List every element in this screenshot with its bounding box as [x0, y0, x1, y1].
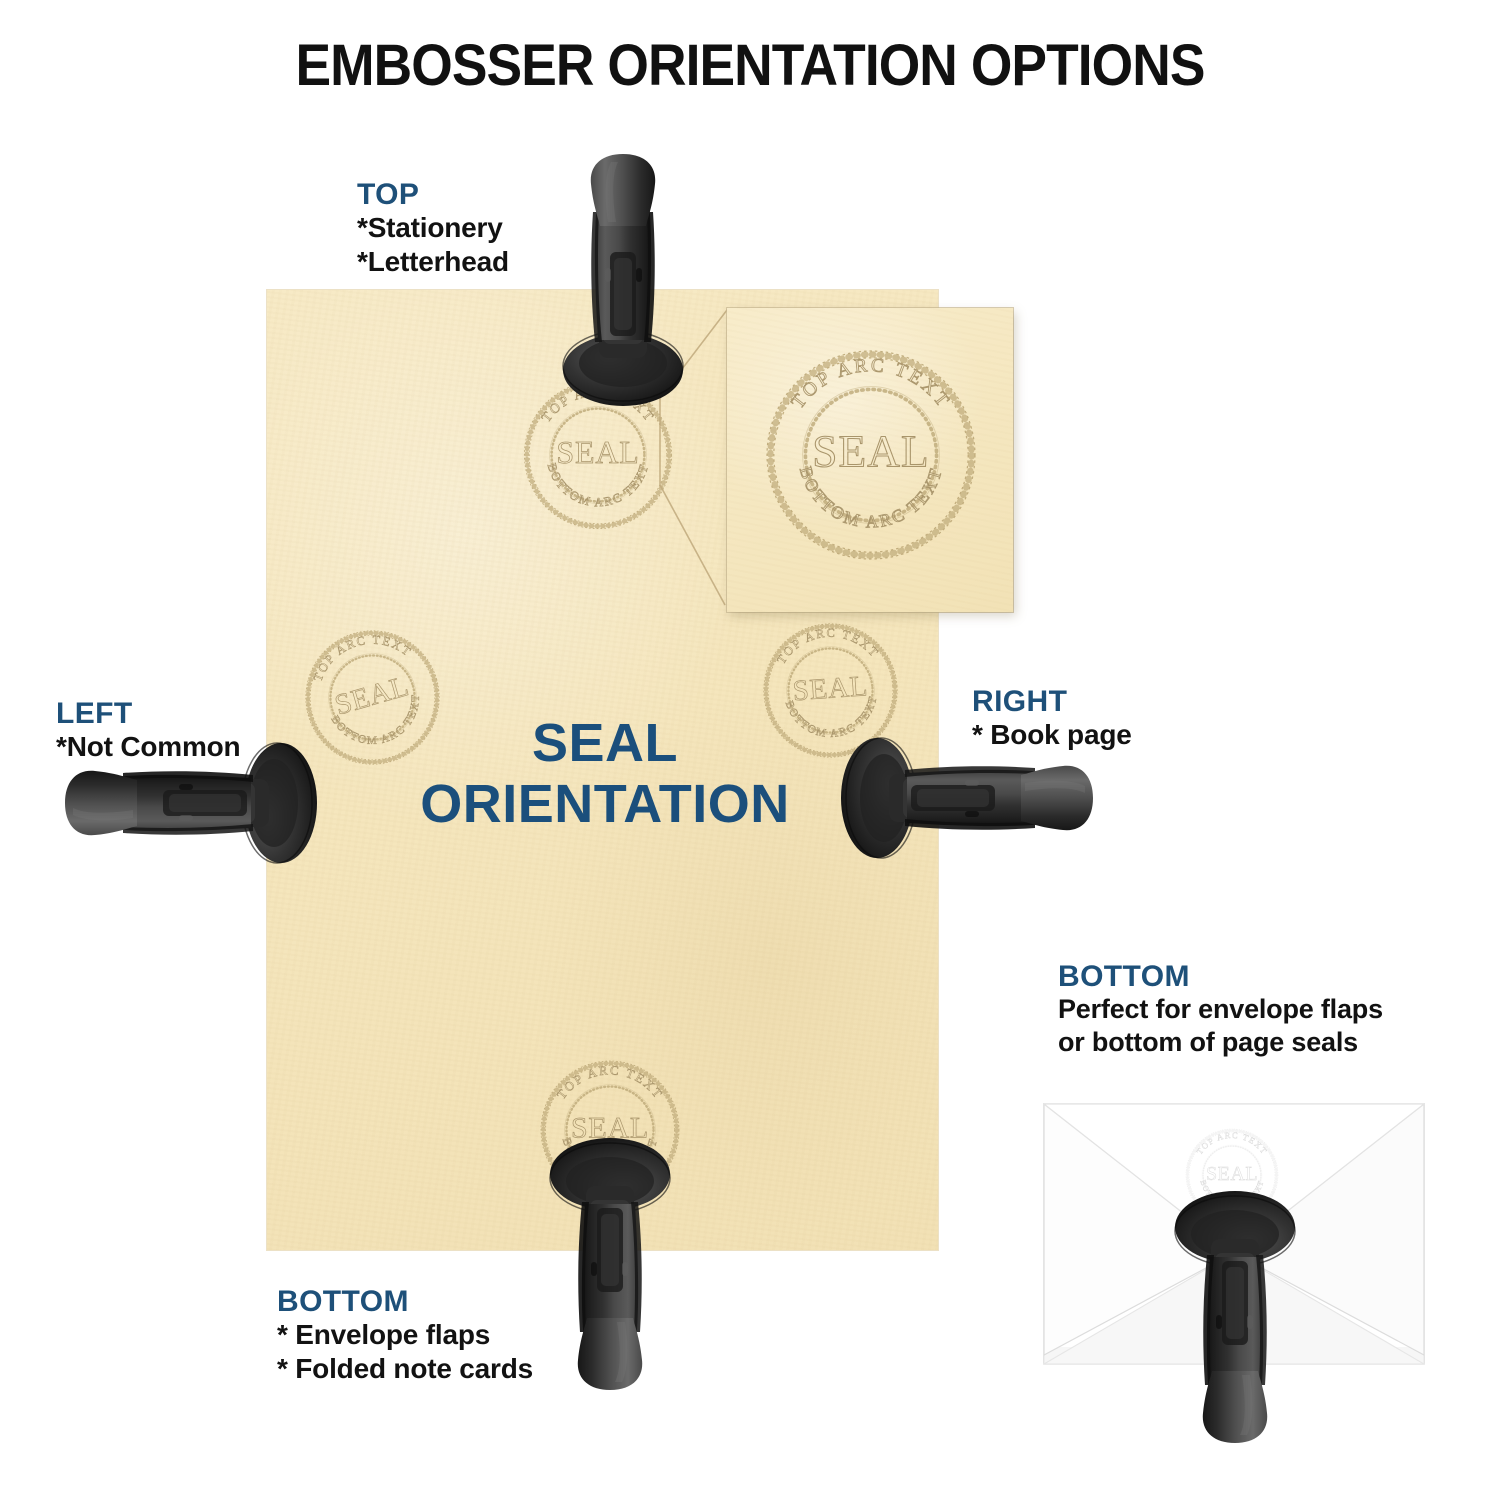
label-bottom-left-line-1: * Folded note cards: [277, 1352, 533, 1386]
label-left-heading: LEFT: [56, 697, 240, 730]
label-right: RIGHT * Book page: [972, 685, 1132, 752]
label-top: TOP *Stationery *Letterhead: [357, 178, 509, 279]
label-left: LEFT *Not Common: [56, 697, 240, 764]
label-top-line-0: *Stationery: [357, 211, 509, 245]
infographic-canvas: EMBOSSER ORIENTATION OPTIONS TOP ARC TEX…: [0, 0, 1500, 1500]
center-caption: SEAL ORIENTATION: [340, 716, 870, 832]
magnifier-callout: [727, 308, 1013, 612]
embossed-seal-magnified: [758, 342, 984, 568]
label-bottom-right-line-1: or bottom of page seals: [1058, 1026, 1383, 1059]
label-bottom-left-line-0: * Envelope flaps: [277, 1318, 533, 1352]
center-caption-line1: SEAL: [340, 716, 870, 771]
label-top-line-1: *Letterhead: [357, 245, 509, 279]
label-bottom-left: BOTTOM * Envelope flaps * Folded note ca…: [277, 1285, 533, 1386]
embosser-tool-bottom: [540, 1132, 680, 1392]
page-title: EMBOSSER ORIENTATION OPTIONS: [60, 32, 1440, 99]
label-right-line-0: * Book page: [972, 718, 1132, 752]
label-right-heading: RIGHT: [972, 685, 1132, 718]
embosser-tool-envelope: [1165, 1185, 1305, 1445]
label-left-line-0: *Not Common: [56, 730, 240, 764]
embosser-tool-top: [553, 152, 693, 412]
center-caption-line2: ORIENTATION: [340, 777, 870, 832]
label-top-heading: TOP: [357, 178, 509, 211]
label-bottom-right: BOTTOM Perfect for envelope flaps or bot…: [1058, 960, 1383, 1059]
label-bottom-right-line-0: Perfect for envelope flaps: [1058, 993, 1383, 1026]
label-bottom-right-heading: BOTTOM: [1058, 960, 1383, 993]
envelope: [1043, 1103, 1425, 1365]
label-bottom-left-heading: BOTTOM: [277, 1285, 533, 1318]
